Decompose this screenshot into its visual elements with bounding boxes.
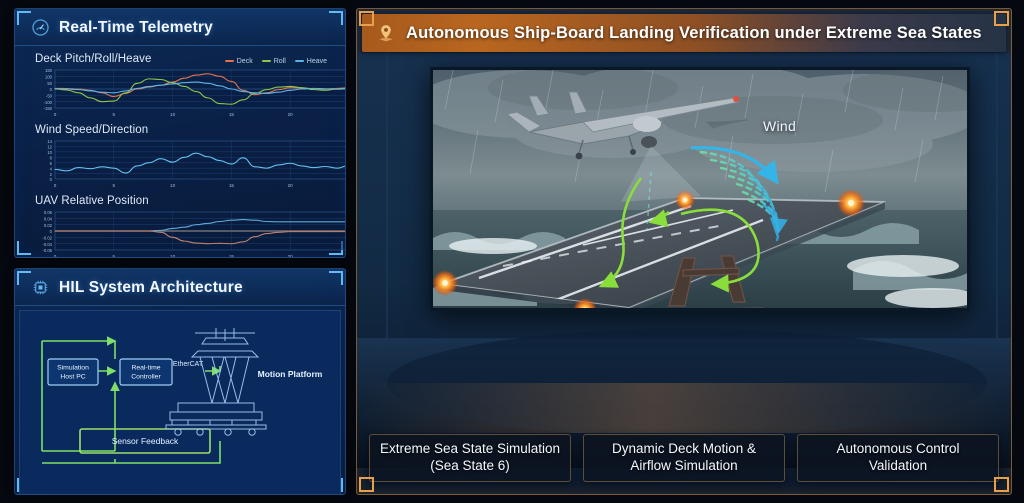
svg-text:20: 20 bbox=[288, 183, 294, 188]
legend-item-roll: Roll bbox=[262, 58, 286, 65]
scene-area: Wind Extreme Sea State Simulation (Sea S… bbox=[357, 53, 1011, 494]
svg-text:0.06: 0.06 bbox=[44, 210, 53, 215]
svg-text:0.02: 0.02 bbox=[44, 223, 53, 228]
svg-text:-150: -150 bbox=[44, 106, 53, 111]
legend-item-heave: Heave bbox=[295, 58, 327, 65]
svg-text:14: 14 bbox=[47, 139, 52, 144]
chart-header: Wind Speed/Direction bbox=[23, 121, 335, 137]
hero-visualization: Wind bbox=[430, 67, 970, 311]
telemetry-panel-title: Real-Time Telemetry bbox=[59, 19, 213, 37]
svg-text:0: 0 bbox=[54, 112, 57, 117]
caption-row: Extreme Sea State Simulation (Sea State … bbox=[369, 434, 999, 482]
chart-header: UAV Relative Position bbox=[23, 192, 335, 208]
svg-text:Host PC: Host PC bbox=[60, 374, 85, 381]
svg-text:0: 0 bbox=[50, 87, 53, 92]
gauge-icon bbox=[31, 18, 50, 37]
svg-text:8: 8 bbox=[50, 155, 53, 160]
motion-platform-wireframe bbox=[166, 328, 266, 435]
hil-architecture-panel: HIL System Architecture bbox=[14, 268, 346, 495]
showcase-panel: Autonomous Ship-Board Landing Verificati… bbox=[356, 8, 1012, 495]
chart-header: Deck Pitch/Roll/Heave Deck Roll Heave bbox=[23, 50, 335, 66]
chip-icon bbox=[31, 278, 50, 297]
node-simulation-host-pc: Simulation Host PC bbox=[48, 359, 98, 385]
svg-text:-100: -100 bbox=[44, 100, 53, 105]
chart-plot-area: 150100500-50-100-1500510152025 bbox=[25, 66, 335, 118]
sensor-feedback-label: Sensor Feedback bbox=[112, 436, 179, 446]
svg-text:-0.04: -0.04 bbox=[42, 242, 52, 247]
chart-title: Deck Pitch/Roll/Heave bbox=[35, 53, 152, 65]
right-column: Autonomous Ship-Board Landing Verificati… bbox=[352, 0, 1024, 503]
telemetry-panel-header: Real-Time Telemetry bbox=[15, 9, 345, 46]
caption-extreme-sea-state[interactable]: Extreme Sea State Simulation (Sea State … bbox=[369, 434, 571, 482]
showcase-banner: Autonomous Ship-Board Landing Verificati… bbox=[362, 14, 1006, 52]
motion-platform-label: Motion Platform bbox=[258, 369, 323, 379]
telemetry-panel: Real-Time Telemetry Deck Pitch/Roll/Heav… bbox=[14, 8, 346, 258]
svg-text:5: 5 bbox=[113, 112, 116, 117]
svg-text:5: 5 bbox=[113, 254, 116, 258]
svg-text:0: 0 bbox=[50, 177, 53, 182]
chart-uav-relative-position: UAV Relative Position 0.060.040.020-0.02… bbox=[23, 192, 335, 258]
caption-line-1: Dynamic Deck Motion & bbox=[612, 441, 756, 458]
chart-legend: Deck Roll Heave bbox=[225, 58, 331, 65]
hil-diagram: Sensor Feedback Simulation Host PC Real-… bbox=[19, 310, 341, 495]
chart-deck-pitch-roll-heave: Deck Pitch/Roll/Heave Deck Roll Heave 15… bbox=[23, 50, 335, 118]
svg-text:100: 100 bbox=[45, 75, 53, 80]
dashboard: Real-Time Telemetry Deck Pitch/Roll/Heav… bbox=[0, 0, 1024, 503]
svg-text:Real-time: Real-time bbox=[131, 365, 160, 372]
svg-text:10: 10 bbox=[170, 254, 176, 258]
chart-title: UAV Relative Position bbox=[35, 195, 149, 207]
caption-dynamic-deck-motion[interactable]: Dynamic Deck Motion & Airflow Simulation bbox=[583, 434, 785, 482]
chart-plot-area: 0.060.040.020-0.02-0.04-0.060510152025 bbox=[25, 208, 335, 258]
chart-wind-speed-direction: Wind Speed/Direction 1412108642005101520… bbox=[23, 121, 335, 189]
svg-text:Simulation: Simulation bbox=[57, 365, 89, 372]
svg-text:0: 0 bbox=[54, 183, 57, 188]
svg-text:12: 12 bbox=[47, 145, 52, 150]
wind-label: Wind bbox=[763, 118, 796, 134]
location-pin-icon bbox=[376, 23, 396, 43]
legend-label: Deck bbox=[237, 58, 253, 65]
svg-text:15: 15 bbox=[229, 183, 235, 188]
caption-autonomous-control[interactable]: Autonomous Control Validation bbox=[797, 434, 999, 482]
hil-panel-header: HIL System Architecture bbox=[15, 269, 345, 306]
svg-text:50: 50 bbox=[47, 81, 52, 86]
svg-text:Controller: Controller bbox=[131, 374, 161, 381]
svg-text:0: 0 bbox=[54, 254, 57, 258]
caption-line-2: Airflow Simulation bbox=[612, 458, 756, 475]
svg-text:20: 20 bbox=[288, 112, 294, 117]
node-real-time-controller: Real-time Controller bbox=[120, 359, 172, 385]
chart-title: Wind Speed/Direction bbox=[35, 124, 148, 136]
ethercat-label: EtherCAT bbox=[173, 361, 204, 368]
svg-text:20: 20 bbox=[288, 254, 294, 258]
svg-text:5: 5 bbox=[113, 183, 116, 188]
showcase-title: Autonomous Ship-Board Landing Verificati… bbox=[406, 24, 982, 43]
svg-text:-0.02: -0.02 bbox=[42, 236, 52, 241]
svg-text:0: 0 bbox=[50, 229, 53, 234]
svg-text:4: 4 bbox=[50, 166, 53, 171]
svg-text:15: 15 bbox=[229, 112, 235, 117]
legend-item-deck: Deck bbox=[225, 58, 253, 65]
telemetry-charts: Deck Pitch/Roll/Heave Deck Roll Heave 15… bbox=[15, 46, 345, 258]
caption-line-1: Autonomous Control bbox=[836, 441, 959, 458]
svg-text:0.04: 0.04 bbox=[44, 217, 53, 222]
legend-label: Roll bbox=[274, 58, 286, 65]
hil-panel-title: HIL System Architecture bbox=[59, 279, 243, 297]
svg-text:10: 10 bbox=[170, 183, 176, 188]
caption-line-1: Extreme Sea State Simulation bbox=[380, 441, 560, 458]
left-column: Real-Time Telemetry Deck Pitch/Roll/Heav… bbox=[0, 0, 352, 503]
caption-line-2: (Sea State 6) bbox=[380, 458, 560, 475]
caption-line-2: Validation bbox=[836, 458, 959, 475]
svg-text:6: 6 bbox=[50, 161, 53, 166]
svg-text:2: 2 bbox=[50, 172, 53, 177]
svg-text:15: 15 bbox=[229, 254, 235, 258]
svg-text:-0.06: -0.06 bbox=[42, 248, 52, 253]
svg-text:150: 150 bbox=[45, 68, 53, 73]
svg-text:-50: -50 bbox=[46, 94, 53, 99]
svg-text:10: 10 bbox=[47, 150, 52, 155]
svg-text:10: 10 bbox=[170, 112, 176, 117]
chart-plot-area: 141210864200510152025 bbox=[25, 137, 335, 189]
legend-label: Heave bbox=[307, 58, 327, 65]
